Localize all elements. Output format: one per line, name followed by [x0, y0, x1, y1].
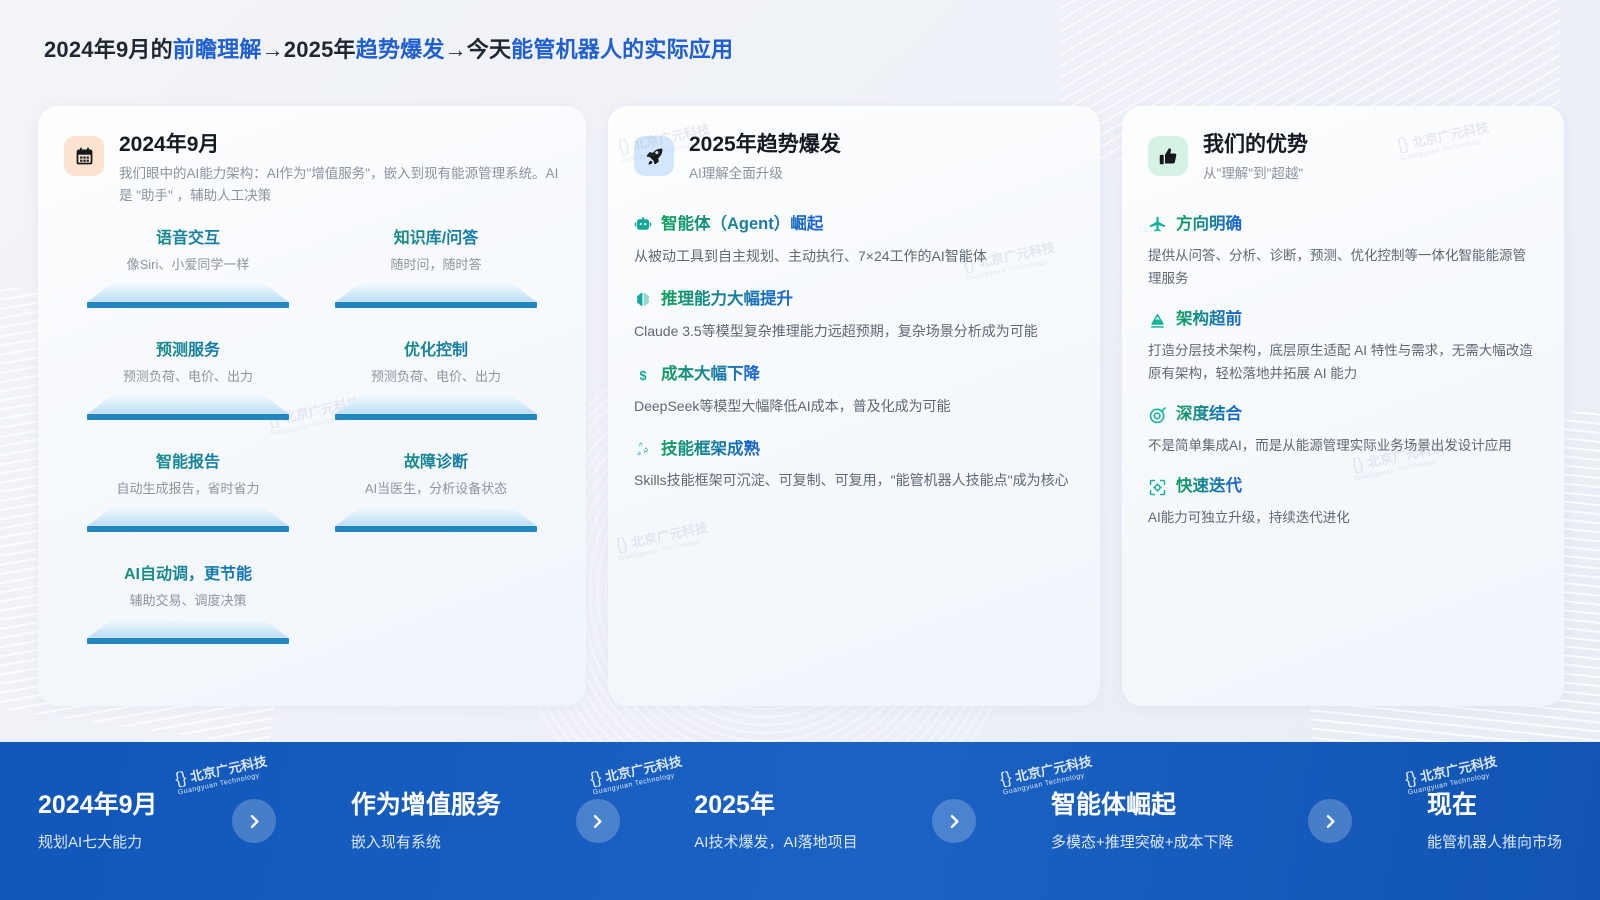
feature-desc: 不是简单集成AI，而是从能源管理实际业务场景出发设计应用: [1148, 434, 1538, 457]
feature-title: 架构超前: [1176, 310, 1242, 330]
feature-item[interactable]: 深度结合 不是简单集成AI，而是从能源管理实际业务场景出发设计应用: [1148, 405, 1538, 457]
feature-header: 架构超前: [1148, 310, 1538, 330]
page-title-seg-3: 趋势爆发: [356, 37, 445, 62]
feature-item[interactable]: 快速迭代 AI能力可独立升级，持续迭代进化: [1148, 477, 1538, 529]
card-title: 2024年9月: [119, 133, 560, 157]
plinth-shape: [87, 619, 289, 644]
card-subtitle: AI理解全面升级: [689, 163, 1074, 185]
capability-title: 故障诊断: [320, 453, 552, 474]
feature-title: 智能体（Agent）崛起: [661, 215, 823, 235]
timeline-step[interactable]: 2024年9月 规划AI七大能力: [38, 790, 158, 852]
feature-header: 技能框架成熟: [634, 440, 1074, 460]
feature-desc: 打造分层技术架构，底层原生适配 AI 特性与需求，无需大幅改造原有架构，轻松落地…: [1148, 339, 1538, 385]
feature-list: 方向明确 提供从问答、分析、诊断，预测、优化控制等一体化智能能源管理服务 架构超…: [1122, 185, 1564, 530]
plinth-shape: [87, 395, 289, 420]
timeline-step-desc: AI技术爆发，AI落地项目: [694, 831, 857, 852]
plinth-shape: [335, 395, 537, 420]
page-title-seg-0: 2024年9月的: [44, 37, 173, 62]
feature-title: 方向明确: [1176, 215, 1242, 235]
chevron-right-icon: [232, 799, 276, 843]
feature-desc: 提供从问答、分析、诊断，预测、优化控制等一体化智能能源管理服务: [1148, 244, 1538, 290]
timeline-step-title: 2025年: [694, 790, 857, 820]
capability-item[interactable]: AI自动调，更节能 辅助交易、调度决策: [64, 565, 312, 644]
feature-header: $ 成本大幅下降: [634, 365, 1074, 385]
page-title-seg-2: →2025年: [262, 37, 356, 62]
capability-title: 预测服务: [72, 341, 304, 362]
feature-title: 成本大幅下降: [661, 365, 760, 385]
feature-title: 快速迭代: [1176, 477, 1242, 497]
layers-icon: [1148, 311, 1167, 330]
feature-item[interactable]: 智能体（Agent）崛起 从被动工具到自主规划、主动执行、7×24工作的AI智能…: [634, 215, 1074, 268]
capability-title: AI自动调，更节能: [72, 565, 304, 586]
capability-item[interactable]: 预测服务 预测负荷、电价、出力: [64, 341, 312, 420]
card-header: 2024年9月 我们眼中的AI能力架构：AI作为"增值服务"，嵌入到现有能源管理…: [38, 106, 586, 207]
timeline-step[interactable]: 智能体崛起 多模态+推理突破+成本下降: [1051, 790, 1234, 852]
watermark-mark: {}: [614, 534, 629, 555]
page-title-seg-1: 前瞻理解: [173, 37, 262, 62]
dollar-icon: $: [634, 366, 652, 384]
capability-desc: 辅助交易、调度决策: [72, 592, 304, 610]
capability-grid: 语音交互 像Siri、小爱同学一样 知识库/问答 随时问，随时答 预测服务 预测…: [38, 207, 586, 677]
watermark-cn: 北京广元科技: [630, 520, 709, 551]
timeline-steps: 2024年9月 规划AI七大能力 作为增值服务 嵌入现有系统 2025年 AI技…: [0, 742, 1600, 900]
capability-desc: 预测负荷、电价、出力: [72, 368, 304, 386]
feature-header: 推理能力大幅提升: [634, 290, 1074, 310]
card-header-text: 我们的优势 从"理解"到"超越": [1203, 133, 1538, 185]
feature-title: 深度结合: [1176, 405, 1242, 425]
svg-text:$: $: [639, 368, 646, 383]
feature-item[interactable]: $ 成本大幅下降 DeepSeek等模型大幅降低AI成本，普及化成为可能: [634, 365, 1074, 418]
card-header: 我们的优势 从"理解"到"超越": [1122, 106, 1564, 185]
capability-desc: 随时问，随时答: [320, 256, 552, 274]
plinth-shape: [87, 283, 289, 308]
card-title: 我们的优势: [1203, 133, 1538, 157]
refresh-box-icon: [1148, 478, 1167, 497]
capability-item[interactable]: 智能报告 自动生成报告，省时省力: [64, 453, 312, 532]
timeline-step-desc: 多模态+推理突破+成本下降: [1051, 831, 1234, 852]
watermark-en: Guangyuan Technology: [618, 536, 711, 563]
plinth-shape: [335, 507, 537, 532]
feature-item[interactable]: 推理能力大幅提升 Claude 3.5等模型复杂推理能力远超预期，复杂场景分析成…: [634, 290, 1074, 343]
feature-item[interactable]: 技能框架成熟 Skills技能框架可沉淀、可复制、可复用，"能管机器人技能点"成…: [634, 440, 1074, 493]
target-icon: [1148, 406, 1167, 425]
calendar-icon: [64, 136, 104, 176]
rocket-icon: [634, 136, 674, 176]
thumbs-up-icon: [1148, 136, 1188, 176]
feature-list: 智能体（Agent）崛起 从被动工具到自主规划、主动执行、7×24工作的AI智能…: [608, 185, 1100, 493]
capability-desc: 自动生成报告，省时省力: [72, 480, 304, 498]
timeline-step-title: 智能体崛起: [1051, 790, 1234, 820]
gears-icon: [634, 441, 652, 459]
card-header-text: 2025年趋势爆发 AI理解全面升级: [689, 133, 1074, 185]
chevron-right-icon: [1308, 799, 1352, 843]
card-2025-trend: {}北京广元科技 Guangyuan Technology {}北京广元科技 G…: [608, 106, 1100, 706]
airplane-icon: [1148, 215, 1167, 234]
page-title-seg-5: 能管机器人的实际应用: [511, 37, 733, 62]
feature-header: 方向明确: [1148, 215, 1538, 235]
card-our-advantages: {}北京广元科技 Guangyuan Technology {}北京广元科技 G…: [1122, 106, 1564, 706]
feature-desc: 从被动工具到自主规划、主动执行、7×24工作的AI智能体: [634, 244, 1074, 268]
chevron-right-icon: [576, 799, 620, 843]
feature-header: 智能体（Agent）崛起: [634, 215, 1074, 235]
plinth-shape: [87, 507, 289, 532]
timeline-step-desc: 能管机器人推向市场: [1427, 831, 1562, 852]
capability-item[interactable]: 优化控制 预测负荷、电价、出力: [312, 341, 560, 420]
feature-desc: Claude 3.5等模型复杂推理能力远超预期，复杂场景分析成为可能: [634, 319, 1074, 343]
timeline-step-title: 现在: [1427, 790, 1562, 820]
capability-item[interactable]: 故障诊断 AI当医生，分析设备状态: [312, 453, 560, 532]
card-subtitle: 我们眼中的AI能力架构：AI作为"增值服务"，嵌入到现有能源管理系统。AI是 "…: [119, 163, 560, 207]
brain-icon: [634, 291, 652, 309]
capability-item[interactable]: 语音交互 像Siri、小爱同学一样: [64, 229, 312, 308]
card-header-text: 2024年9月 我们眼中的AI能力架构：AI作为"增值服务"，嵌入到现有能源管理…: [119, 133, 560, 207]
timeline-step[interactable]: 2025年 AI技术爆发，AI落地项目: [694, 790, 857, 852]
feature-desc: AI能力可独立升级，持续迭代进化: [1148, 506, 1538, 529]
page-title-seg-4: →今天: [445, 37, 512, 62]
timeline-step-desc: 嵌入现有系统: [351, 831, 501, 852]
timeline-step[interactable]: 作为增值服务 嵌入现有系统: [351, 790, 501, 852]
timeline-step-title: 2024年9月: [38, 790, 158, 820]
feature-title: 技能框架成熟: [661, 440, 760, 460]
capability-desc: AI当医生，分析设备状态: [320, 480, 552, 498]
capability-item[interactable]: 知识库/问答 随时问，随时答: [312, 229, 560, 308]
footer-timeline: {}北京广元科技 Guangyuan Technology {}北京广元科技 G…: [0, 742, 1600, 900]
timeline-step[interactable]: 现在 能管机器人推向市场: [1427, 790, 1562, 852]
feature-header: 快速迭代: [1148, 477, 1538, 497]
capability-title: 知识库/问答: [320, 229, 552, 250]
card-header: 2025年趋势爆发 AI理解全面升级: [608, 106, 1100, 185]
card-2024-september: {}北京广元科技 Guangyuan Technology 2024年9月 我们…: [38, 106, 586, 706]
capability-desc: 像Siri、小爱同学一样: [72, 256, 304, 274]
cards-row: {}北京广元科技 Guangyuan Technology 2024年9月 我们…: [38, 106, 1564, 706]
chevron-right-icon: [932, 799, 976, 843]
capability-title: 智能报告: [72, 453, 304, 474]
page-title: 2024年9月的前瞻理解→2025年趋势爆发→今天能管机器人的实际应用: [44, 32, 733, 64]
capability-title: 语音交互: [72, 229, 304, 250]
watermark: {}北京广元科技 Guangyuan Technology: [614, 517, 711, 563]
feature-header: 深度结合: [1148, 405, 1538, 425]
timeline-step-desc: 规划AI七大能力: [38, 831, 158, 852]
plinth-shape: [335, 283, 537, 308]
feature-title: 推理能力大幅提升: [661, 290, 793, 310]
feature-item[interactable]: 方向明确 提供从问答、分析、诊断，预测、优化控制等一体化智能能源管理服务: [1148, 215, 1538, 290]
card-subtitle: 从"理解"到"超越": [1203, 163, 1538, 185]
card-title: 2025年趋势爆发: [689, 133, 1074, 157]
feature-item[interactable]: 架构超前 打造分层技术架构，底层原生适配 AI 特性与需求，无需大幅改造原有架构…: [1148, 310, 1538, 385]
capability-desc: 预测负荷、电价、出力: [320, 368, 552, 386]
feature-desc: DeepSeek等模型大幅降低AI成本，普及化成为可能: [634, 394, 1074, 418]
robot-icon: [634, 216, 652, 234]
feature-desc: Skills技能框架可沉淀、可复制、可复用，"能管机器人技能点"成为核心: [634, 468, 1074, 492]
capability-title: 优化控制: [320, 341, 552, 362]
timeline-step-title: 作为增值服务: [351, 790, 501, 820]
